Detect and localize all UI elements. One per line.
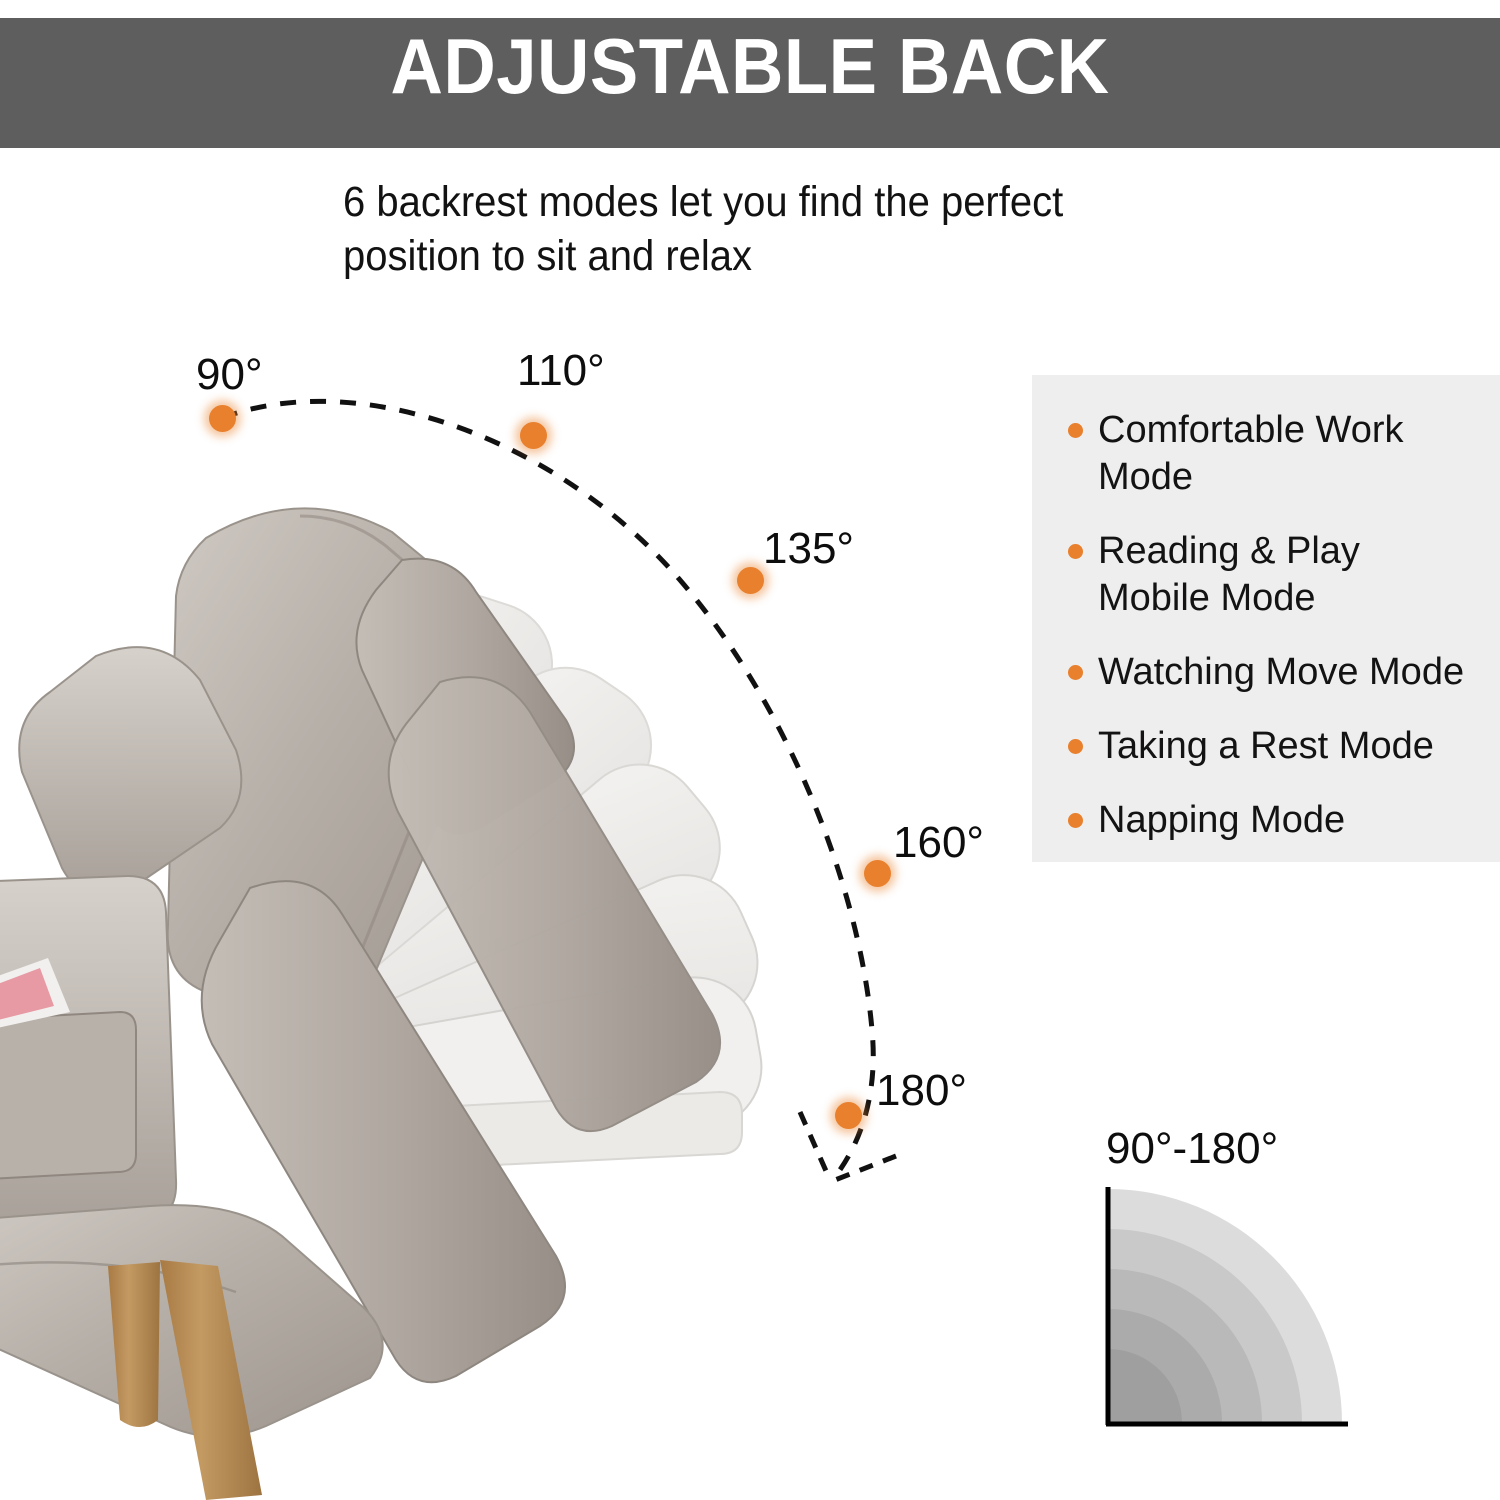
angle-marker-160[interactable] <box>864 860 891 887</box>
bullet-dot-icon <box>1068 665 1083 680</box>
list-item[interactable]: Watching Move Mode <box>1068 649 1488 696</box>
list-item[interactable]: Napping Mode <box>1068 797 1488 844</box>
feature-label: Watching Move Mode <box>1098 649 1488 696</box>
bullet-dot-icon <box>1068 739 1083 754</box>
range-label: 90°-180° <box>1106 1125 1278 1173</box>
feature-label: Napping Mode <box>1098 797 1488 844</box>
feature-label: Reading & Play Mobile Mode <box>1098 528 1488 622</box>
side-pocket <box>0 1012 136 1180</box>
infographic-page: ADJUSTABLE BACK 6 backrest modes let you… <box>0 0 1500 1500</box>
armrest-with-pocket <box>0 876 176 1232</box>
bullet-dot-icon <box>1068 544 1083 559</box>
list-item[interactable]: Comfortable Work Mode <box>1068 407 1488 501</box>
subtitle-line-1: 6 backrest modes let you find the perfec… <box>343 175 1161 229</box>
recline-range-diagram: 90°-180° <box>1100 1125 1400 1450</box>
angle-marker-180[interactable] <box>835 1102 862 1129</box>
arrow-head-right <box>830 1156 896 1182</box>
feature-panel: Comfortable Work Mode Reading & Play Mob… <box>1032 375 1500 862</box>
bullet-dot-icon <box>1068 813 1083 828</box>
angle-label-180: 180° <box>876 1068 967 1114</box>
angle-label-160: 160° <box>893 820 984 866</box>
product-photo <box>0 420 820 1500</box>
list-item[interactable]: Reading & Play Mobile Mode <box>1068 528 1488 622</box>
angle-label-110: 110° <box>517 348 605 394</box>
feature-label: Taking a Rest Mode <box>1098 723 1488 770</box>
feature-label: Comfortable Work Mode <box>1098 407 1488 501</box>
angle-label-90: 90° <box>196 352 263 398</box>
subtitle-line-2: position to sit and relax <box>343 229 1161 283</box>
list-item[interactable]: Taking a Rest Mode <box>1068 723 1488 770</box>
page-title: ADJUSTABLE BACK <box>53 26 1448 106</box>
feature-list: Comfortable Work Mode Reading & Play Mob… <box>1068 407 1488 871</box>
subtitle: 6 backrest modes let you find the perfec… <box>343 175 1161 283</box>
chair-illustration <box>0 420 820 1500</box>
quarter-circle-art <box>1100 1183 1380 1431</box>
bullet-dot-icon <box>1068 423 1083 438</box>
